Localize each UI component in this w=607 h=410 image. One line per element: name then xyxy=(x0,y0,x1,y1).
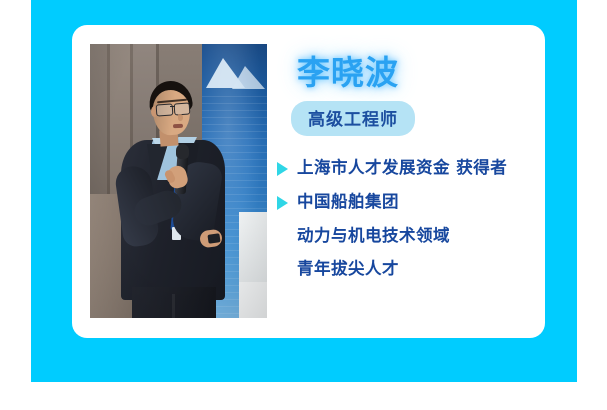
credentials-list: 上海市人才发展资金 获得者 中国船舶集团 动力与机电技术领域 青年拔尖人才 xyxy=(277,158,532,280)
triangle-bullet-icon xyxy=(277,196,288,210)
triangle-bullet-icon-placeholder xyxy=(277,230,288,244)
triangle-bullet-icon xyxy=(277,162,288,176)
credential-text: 动力与机电技术领域 xyxy=(297,226,450,247)
profile-info: 李晓波 高级工程师 上海市人才发展资金 获得者 中国船舶集团 动力与机电技术领域 xyxy=(277,55,532,293)
speaker-photo xyxy=(90,44,267,318)
credential-text: 青年拔尖人才 xyxy=(297,259,399,280)
profile-title-badge: 高级工程师 xyxy=(291,101,415,136)
credential-text: 上海市人才发展资金 获得者 xyxy=(297,158,507,179)
credential-text: 中国船舶集团 xyxy=(297,192,399,213)
list-item: 动力与机电技术领域 xyxy=(277,226,532,247)
photo-scene xyxy=(90,44,267,318)
triangle-bullet-icon-placeholder xyxy=(277,263,288,277)
list-item: 中国船舶集团 xyxy=(277,192,532,213)
profile-name: 李晓波 xyxy=(297,55,532,91)
list-item: 青年拔尖人才 xyxy=(277,259,532,280)
photo-vignette xyxy=(90,44,267,318)
profile-card: 李晓波 高级工程师 上海市人才发展资金 获得者 中国船舶集团 动力与机电技术领域 xyxy=(72,25,545,338)
list-item: 上海市人才发展资金 获得者 xyxy=(277,158,532,179)
profile-card-page: 李晓波 高级工程师 上海市人才发展资金 获得者 中国船舶集团 动力与机电技术领域 xyxy=(0,0,607,410)
